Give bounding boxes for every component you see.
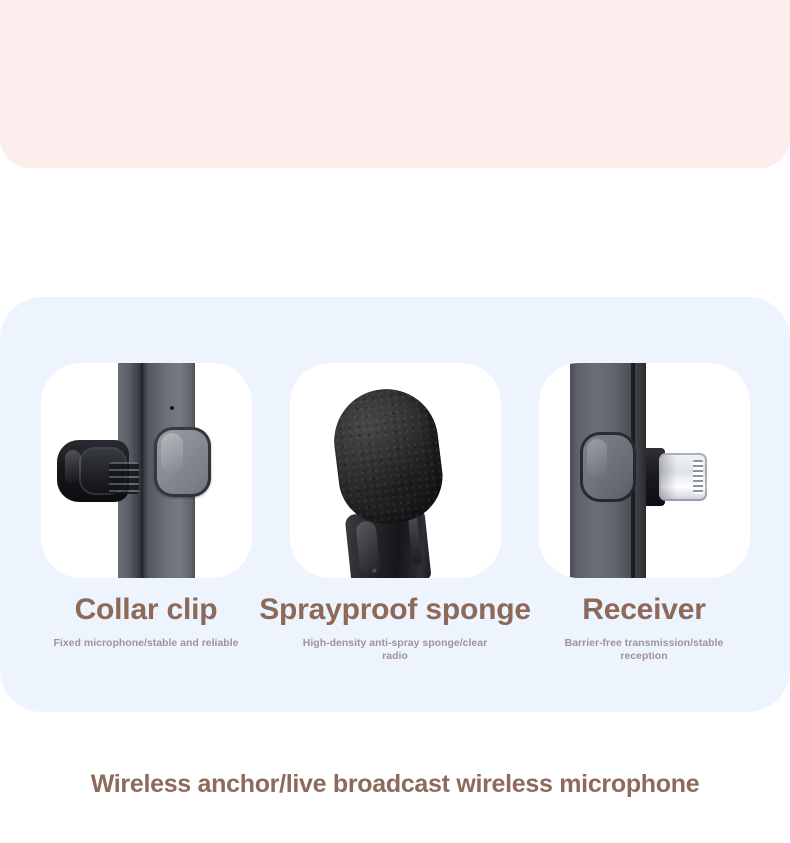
bottom-headline: Wireless anchor/live broadcast wireless … — [0, 770, 790, 799]
product-photo-receiver — [539, 363, 750, 578]
usb-connector-pins — [693, 460, 703, 494]
feature-title: Collar clip — [75, 594, 218, 626]
receiver-body-shape — [570, 363, 646, 578]
mic-pinhole-icon — [372, 568, 376, 572]
feature-receiver[interactable]: Receiver Barrier-free transmission/stabl… — [539, 363, 750, 663]
product-photo-sprayproof-sponge — [290, 363, 501, 578]
receiver-illustration — [539, 363, 750, 578]
sponge-illustration — [290, 363, 501, 578]
feature-collar-clip[interactable]: Collar clip Fixed microphone/stable and … — [41, 363, 252, 650]
mic-pinhole-icon — [170, 406, 174, 410]
receiver-button-shape — [580, 432, 636, 502]
foam-windscreen-shape — [328, 383, 448, 529]
feature-sprayproof-sponge[interactable]: Sprayproof sponge High-density anti-spra… — [290, 363, 501, 663]
collar-clip-illustration — [41, 363, 252, 578]
product-photo-collar-clip — [41, 363, 252, 578]
usb-c-connector-icon — [659, 453, 707, 501]
clip-jaw-shape — [57, 440, 129, 502]
usb-connector-shade — [661, 455, 677, 499]
mic-neck-gloss — [355, 520, 381, 576]
mic-neck-edge — [407, 514, 421, 565]
feature-title: Sprayproof sponge — [259, 594, 531, 626]
clip-grip-ridges — [109, 462, 139, 494]
clip-gloss-highlight — [65, 450, 81, 484]
feature-panel: Collar clip Fixed microphone/stable and … — [0, 297, 790, 712]
mic-body-seam — [141, 363, 144, 578]
clip-jaw-inner-shape — [79, 447, 127, 495]
feature-subtitle: High-density anti-spray sponge/clear rad… — [295, 637, 495, 663]
foam-texture-overlay — [328, 383, 448, 529]
feature-cards-row: Collar clip Fixed microphone/stable and … — [0, 297, 790, 712]
top-banner-panel — [0, 0, 790, 168]
feature-subtitle: Barrier-free transmission/stable recepti… — [544, 637, 744, 663]
mic-button-shape — [154, 427, 211, 497]
feature-subtitle: Fixed microphone/stable and reliable — [54, 637, 239, 650]
feature-title: Receiver — [582, 594, 706, 626]
